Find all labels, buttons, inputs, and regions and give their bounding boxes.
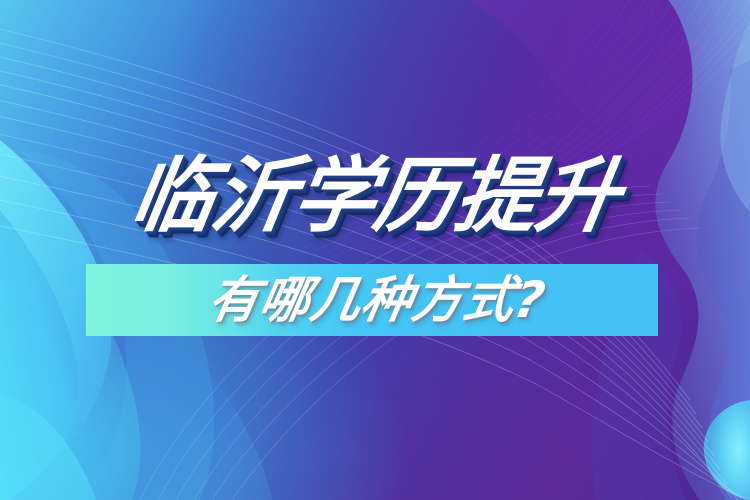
decorative-line-pattern-purple xyxy=(0,0,750,500)
poster-title: 临沂学历提升 xyxy=(125,151,626,243)
title-container: 临沂学历提升 xyxy=(0,151,750,243)
promo-banner: 临沂学历提升 有哪几种方式? xyxy=(0,0,750,500)
poster-subtitle: 有哪几种方式? xyxy=(194,272,550,328)
subtitle-bar: 有哪几种方式? xyxy=(86,264,658,336)
